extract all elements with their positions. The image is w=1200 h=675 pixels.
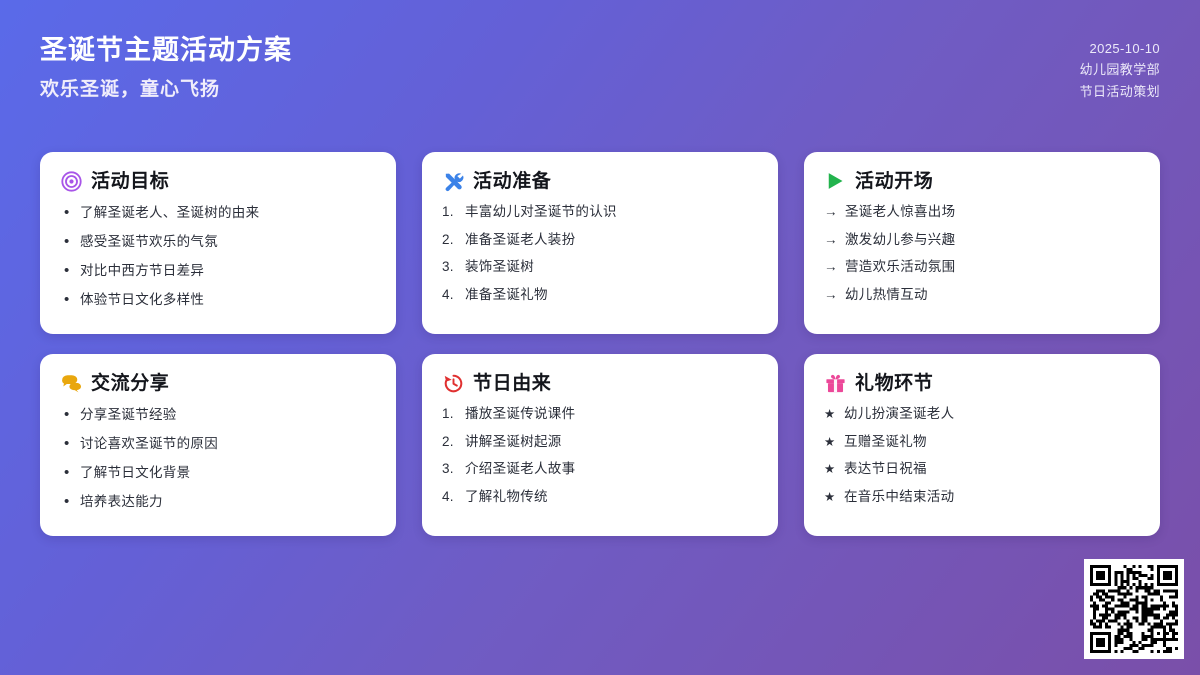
card-title: 活动准备 — [473, 172, 551, 191]
list-item: •培养表达能力 — [60, 494, 376, 509]
list-item: ★表达节日祝福 — [824, 462, 1140, 476]
list-item: •对比中西方节日差异 — [60, 263, 376, 278]
play-icon — [824, 170, 846, 192]
list-item-text: 在音乐中结束活动 — [844, 490, 1140, 504]
card-header: 交流分享 — [60, 372, 376, 394]
list-marker-dot: • — [64, 205, 73, 220]
card-item-list: •分享圣诞节经验•讨论喜欢圣诞节的原因•了解节日文化背景•培养表达能力 — [60, 407, 376, 509]
page-subtitle: 欢乐圣诞，童心飞扬 — [40, 79, 292, 102]
page-title: 圣诞节主题活动方案 — [40, 34, 292, 68]
list-item: 4.了解礼物传统 — [442, 490, 758, 504]
list-item-text: 了解节日文化背景 — [80, 466, 376, 480]
list-item-text: 幼儿热情互动 — [845, 288, 1140, 302]
header-left: 圣诞节主题活动方案 欢乐圣诞，童心飞扬 — [40, 34, 292, 102]
list-item-text: 准备圣诞老人装扮 — [465, 233, 758, 247]
header-meta: 2025-10-10 幼儿园教学部 节日活动策划 — [1080, 34, 1160, 102]
list-item-text: 互赠圣诞礼物 — [844, 435, 1140, 449]
list-item-text: 播放圣诞传说课件 — [465, 407, 758, 421]
list-item: •了解节日文化背景 — [60, 465, 376, 480]
list-item: •分享圣诞节经验 — [60, 407, 376, 422]
list-item-text: 对比中西方节日差异 — [80, 264, 376, 278]
card-header: 活动准备 — [442, 170, 758, 192]
list-item: 2.讲解圣诞树起源 — [442, 435, 758, 449]
qr-code-image — [1090, 565, 1178, 653]
card-item-list: ★幼儿扮演圣诞老人★互赠圣诞礼物★表达节日祝福★在音乐中结束活动 — [824, 407, 1140, 503]
list-item: →营造欢乐活动氛围 — [824, 260, 1140, 274]
list-item: 1.丰富幼儿对圣诞节的认识 — [442, 205, 758, 219]
list-item: •讨论喜欢圣诞节的原因 — [60, 436, 376, 451]
list-marker-star: ★ — [824, 463, 837, 476]
list-item-text: 装饰圣诞树 — [465, 260, 758, 274]
list-marker-number: 4. — [442, 490, 458, 504]
list-item-text: 分享圣诞节经验 — [80, 408, 376, 422]
gift-icon — [824, 372, 846, 394]
list-marker-dot: • — [64, 436, 73, 451]
list-item: 3.装饰圣诞树 — [442, 260, 758, 274]
list-item-text: 培养表达能力 — [80, 495, 376, 509]
list-item: 4.准备圣诞礼物 — [442, 288, 758, 302]
content-card: 活动准备1.丰富幼儿对圣诞节的认识2.准备圣诞老人装扮3.装饰圣诞树4.准备圣诞… — [422, 152, 778, 334]
list-item: ★幼儿扮演圣诞老人 — [824, 407, 1140, 421]
list-item-text: 了解礼物传统 — [465, 490, 758, 504]
card-header: 节日由来 — [442, 372, 758, 394]
card-title: 礼物环节 — [855, 374, 933, 393]
list-marker-star: ★ — [824, 491, 837, 504]
card-item-list: 1.播放圣诞传说课件2.讲解圣诞树起源3.介绍圣诞老人故事4.了解礼物传统 — [442, 407, 758, 503]
target-icon — [60, 170, 82, 192]
content-card: 节日由来1.播放圣诞传说课件2.讲解圣诞树起源3.介绍圣诞老人故事4.了解礼物传… — [422, 354, 778, 536]
list-item-text: 激发幼儿参与兴趣 — [845, 233, 1140, 247]
list-item: →幼儿热情互动 — [824, 288, 1140, 302]
content-card: 交流分享•分享圣诞节经验•讨论喜欢圣诞节的原因•了解节日文化背景•培养表达能力 — [40, 354, 396, 536]
list-marker-star: ★ — [824, 436, 837, 449]
list-marker-number: 1. — [442, 205, 458, 219]
content-card: 活动开场→圣诞老人惊喜出场→激发幼儿参与兴趣→营造欢乐活动氛围→幼儿热情互动 — [804, 152, 1160, 334]
list-marker-number: 2. — [442, 435, 458, 449]
list-marker-dot: • — [64, 407, 73, 422]
content-card: 礼物环节★幼儿扮演圣诞老人★互赠圣诞礼物★表达节日祝福★在音乐中结束活动 — [804, 354, 1160, 536]
list-marker-dot: • — [64, 263, 73, 278]
list-marker-arrow: → — [824, 260, 838, 274]
card-title: 活动目标 — [91, 172, 169, 191]
list-item-text: 丰富幼儿对圣诞节的认识 — [465, 205, 758, 219]
list-marker-arrow: → — [824, 288, 838, 302]
card-header: 活动开场 — [824, 170, 1140, 192]
card-title: 交流分享 — [91, 374, 169, 393]
cards-grid: 活动目标•了解圣诞老人、圣诞树的由来•感受圣诞节欢乐的气氛•对比中西方节日差异•… — [40, 152, 1160, 536]
card-item-list: •了解圣诞老人、圣诞树的由来•感受圣诞节欢乐的气氛•对比中西方节日差异•体验节日… — [60, 205, 376, 307]
list-item: •了解圣诞老人、圣诞树的由来 — [60, 205, 376, 220]
tools-icon — [442, 170, 464, 192]
list-item: 3.介绍圣诞老人故事 — [442, 462, 758, 476]
list-item-text: 圣诞老人惊喜出场 — [845, 205, 1140, 219]
card-item-list: →圣诞老人惊喜出场→激发幼儿参与兴趣→营造欢乐活动氛围→幼儿热情互动 — [824, 205, 1140, 301]
list-item-text: 表达节日祝福 — [844, 462, 1140, 476]
list-item: •感受圣诞节欢乐的气氛 — [60, 234, 376, 249]
list-marker-arrow: → — [824, 233, 838, 247]
card-item-list: 1.丰富幼儿对圣诞节的认识2.准备圣诞老人装扮3.装饰圣诞树4.准备圣诞礼物 — [442, 205, 758, 301]
meta-date: 2025-10-10 — [1080, 38, 1160, 59]
card-header: 活动目标 — [60, 170, 376, 192]
meta-category: 节日活动策划 — [1080, 81, 1160, 102]
list-item-text: 了解圣诞老人、圣诞树的由来 — [80, 206, 376, 220]
list-marker-dot: • — [64, 465, 73, 480]
history-icon — [442, 372, 464, 394]
slide-header: 圣诞节主题活动方案 欢乐圣诞，童心飞扬 2025-10-10 幼儿园教学部 节日… — [40, 34, 1160, 102]
list-marker-number: 3. — [442, 260, 458, 274]
list-item-text: 准备圣诞礼物 — [465, 288, 758, 302]
list-item: 2.准备圣诞老人装扮 — [442, 233, 758, 247]
card-title: 活动开场 — [855, 172, 933, 191]
content-card: 活动目标•了解圣诞老人、圣诞树的由来•感受圣诞节欢乐的气氛•对比中西方节日差异•… — [40, 152, 396, 334]
list-item-text: 讲解圣诞树起源 — [465, 435, 758, 449]
list-item-text: 介绍圣诞老人故事 — [465, 462, 758, 476]
list-item-text: 讨论喜欢圣诞节的原因 — [80, 437, 376, 451]
list-item: →激发幼儿参与兴趣 — [824, 233, 1140, 247]
speech-bubbles-icon — [60, 372, 82, 394]
list-item-text: 营造欢乐活动氛围 — [845, 260, 1140, 274]
list-marker-number: 1. — [442, 407, 458, 421]
list-marker-arrow: → — [824, 205, 838, 219]
list-item-text: 体验节日文化多样性 — [80, 293, 376, 307]
slide-root: 圣诞节主题活动方案 欢乐圣诞，童心飞扬 2025-10-10 幼儿园教学部 节日… — [0, 0, 1200, 675]
card-header: 礼物环节 — [824, 372, 1140, 394]
list-item: 1.播放圣诞传说课件 — [442, 407, 758, 421]
list-item: →圣诞老人惊喜出场 — [824, 205, 1140, 219]
list-marker-dot: • — [64, 234, 73, 249]
list-item: •体验节日文化多样性 — [60, 292, 376, 307]
list-item: ★互赠圣诞礼物 — [824, 435, 1140, 449]
list-marker-number: 3. — [442, 462, 458, 476]
qr-code[interactable] — [1084, 559, 1184, 659]
list-marker-dot: • — [64, 494, 73, 509]
list-item-text: 幼儿扮演圣诞老人 — [844, 407, 1140, 421]
meta-department: 幼儿园教学部 — [1080, 59, 1160, 80]
list-marker-dot: • — [64, 292, 73, 307]
list-item-text: 感受圣诞节欢乐的气氛 — [80, 235, 376, 249]
list-marker-star: ★ — [824, 408, 837, 421]
card-title: 节日由来 — [473, 374, 551, 393]
list-marker-number: 2. — [442, 233, 458, 247]
list-item: ★在音乐中结束活动 — [824, 490, 1140, 504]
list-marker-number: 4. — [442, 288, 458, 302]
